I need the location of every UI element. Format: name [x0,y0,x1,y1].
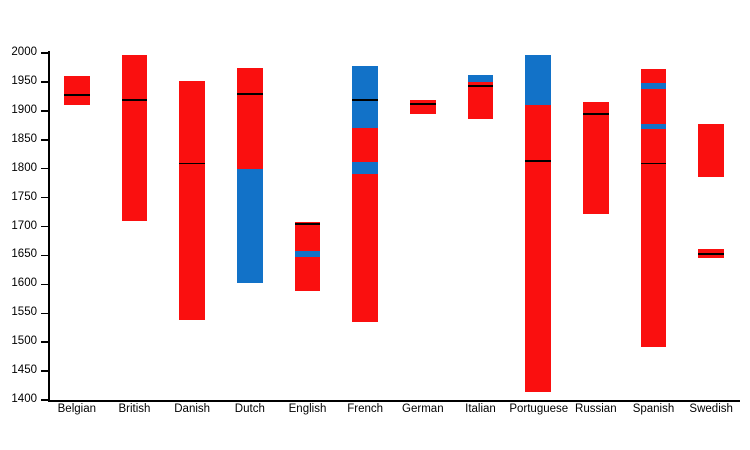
median-line [179,163,205,165]
bar-segment-red [295,257,321,291]
x-axis-line [48,400,740,402]
median-line [352,99,378,101]
bar-segment-blue [295,251,321,257]
y-tick-label: 1500 [11,336,37,348]
bar-segment-red [641,69,667,83]
median-line [698,253,724,255]
bar-belgian[interactable] [64,53,90,400]
y-tick-mark [41,370,48,372]
bar-segment-red [64,76,90,105]
x-category-label-swedish: Swedish [682,403,740,416]
bar-segment-red [525,105,551,392]
bar-danish[interactable] [179,53,205,400]
median-line [583,113,609,115]
bar-italian[interactable] [468,53,494,400]
y-tick-label: 1950 [11,76,37,88]
bar-swedish[interactable] [698,53,724,400]
x-category-label-dutch: Dutch [221,403,279,416]
bar-segment-red [352,174,378,321]
bar-segment-blue [641,124,667,130]
bar-segment-red [352,128,378,162]
y-tick-mark [41,341,48,343]
y-tick-mark [41,226,48,228]
y-tick-mark [41,255,48,257]
bar-segment-blue [237,169,263,284]
y-tick-mark [41,110,48,112]
y-tick-mark [41,284,48,286]
median-line [641,163,667,165]
y-tick-label: 1850 [11,134,37,146]
bar-segment-red [295,222,321,251]
y-tick-mark [41,399,48,401]
bar-dutch[interactable] [237,53,263,400]
y-tick-mark [41,197,48,199]
bar-segment-blue [352,162,378,175]
bar-chart: 1400145015001550160016501700175018001850… [0,0,750,450]
x-category-label-english: English [279,403,337,416]
y-tick-label: 1400 [11,394,37,406]
bar-segment-red [468,82,494,119]
bar-spanish[interactable] [641,53,667,400]
y-tick-label: 1900 [11,105,37,117]
y-tick-label: 1550 [11,307,37,319]
bar-segment-red [641,89,667,123]
median-line [237,93,263,95]
bar-english[interactable] [295,53,321,400]
bar-segment-blue [641,83,667,89]
y-tick-label: 1650 [11,249,37,261]
bar-segment-red [122,55,148,222]
y-tick-label: 1700 [11,221,37,233]
x-category-label-portuguese: Portuguese [509,403,567,416]
y-tick-label: 1450 [11,365,37,377]
y-tick-mark [41,81,48,83]
x-category-label-danish: Danish [163,403,221,416]
y-tick-label: 1600 [11,278,37,290]
y-tick-mark [41,168,48,170]
x-category-label-russian: Russian [567,403,625,416]
median-line [295,223,321,225]
bar-german[interactable] [410,53,436,400]
x-category-label-spanish: Spanish [625,403,683,416]
bar-segment-red [583,102,609,214]
y-tick-mark [41,313,48,315]
median-line [525,160,551,162]
x-category-label-belgian: Belgian [48,403,106,416]
median-line [410,103,436,105]
y-tick-mark [41,139,48,141]
bar-segment-blue [352,66,378,128]
y-tick-label: 1750 [11,192,37,204]
y-tick-label: 2000 [11,47,37,59]
bar-british[interactable] [122,53,148,400]
bar-french[interactable] [352,53,378,400]
bar-segment-red [698,124,724,177]
x-category-label-french: French [336,403,394,416]
median-line [64,94,90,96]
bar-russian[interactable] [583,53,609,400]
median-line [468,85,494,87]
y-tick-label: 1800 [11,163,37,175]
bar-segment-blue [525,55,551,105]
x-category-label-british: British [106,403,164,416]
bar-portuguese[interactable] [525,53,551,400]
bar-segment-blue [468,75,494,83]
bar-segment-red [237,68,263,169]
bar-segment-red [179,81,205,320]
y-tick-mark [41,52,48,54]
x-category-label-german: German [394,403,452,416]
x-category-label-italian: Italian [452,403,510,416]
median-line [122,99,148,101]
y-axis-line [48,51,50,402]
